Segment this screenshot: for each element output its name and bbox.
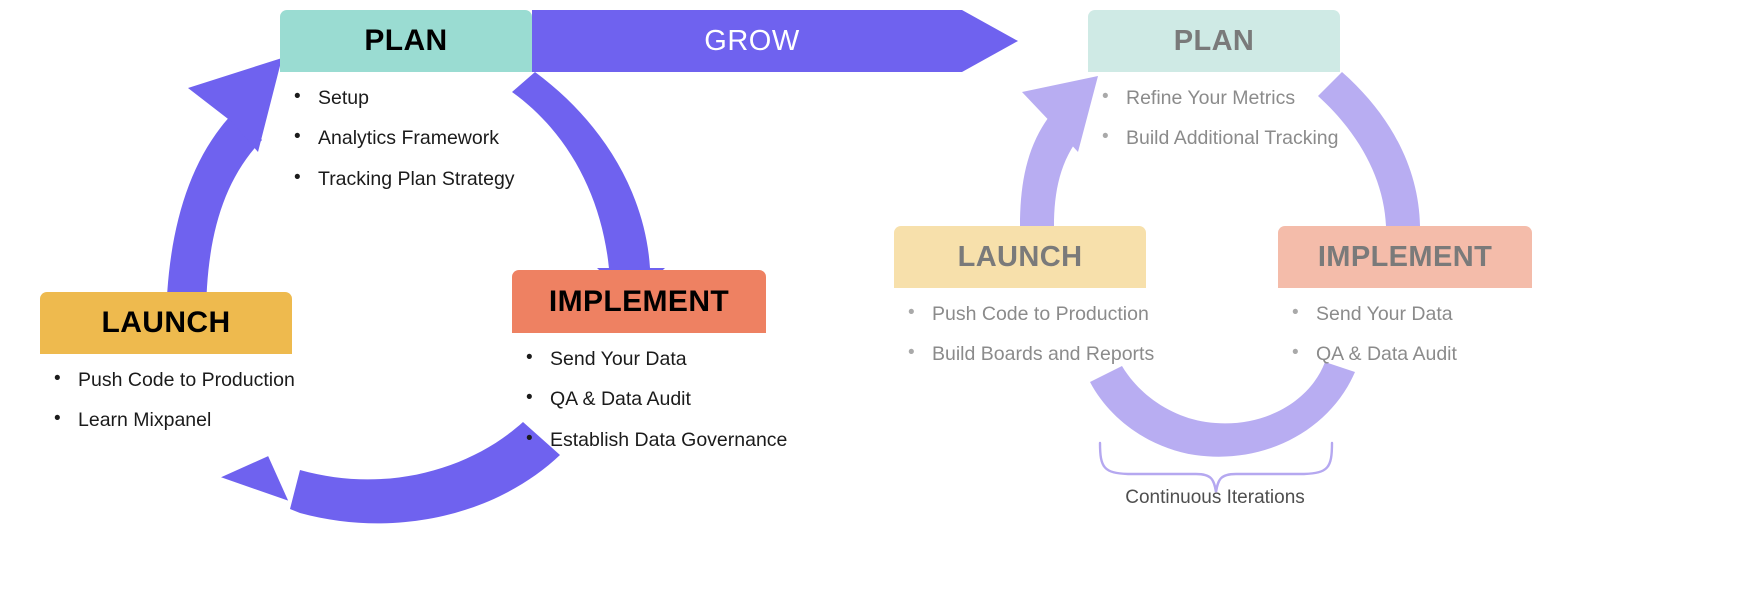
phase-launch-initial[interactable]: LAUNCH Push Code to Production Learn Mix… — [40, 292, 292, 449]
arrow-plan-to-implement — [512, 72, 652, 282]
list-item: QA & Data Audit — [512, 387, 766, 411]
phase-title-plan-iteration: PLAN — [1088, 10, 1340, 72]
list-item: Build Boards and Reports — [894, 342, 1146, 366]
phase-implement-initial[interactable]: IMPLEMENT Send Your Data QA & Data Audit… — [512, 270, 766, 468]
phase-items-plan-initial: Setup Analytics Framework Tracking Plan … — [280, 72, 532, 191]
phase-plan-iteration[interactable]: PLAN Refine Your Metrics Build Additiona… — [1088, 10, 1340, 167]
grow-banner: GROW — [532, 10, 1018, 72]
phase-items-implement-iteration: Send Your Data QA & Data Audit — [1278, 288, 1532, 367]
phase-title-plan-initial: PLAN — [280, 10, 532, 72]
phase-title-implement-initial: IMPLEMENT — [512, 270, 766, 333]
list-item: Learn Mixpanel — [40, 408, 292, 432]
phase-items-plan-iteration: Refine Your Metrics Build Additional Tra… — [1088, 72, 1340, 151]
list-item: Build Additional Tracking — [1088, 126, 1340, 150]
phase-implement-iteration[interactable]: IMPLEMENT Send Your Data QA & Data Audit — [1278, 226, 1532, 383]
phase-items-implement-initial: Send Your Data QA & Data Audit Establish… — [512, 333, 766, 452]
list-item: Push Code to Production — [40, 368, 292, 392]
phase-title-implement-iteration: IMPLEMENT — [1278, 226, 1532, 288]
arrowhead-implement-to-launch — [221, 443, 300, 501]
continuous-iterations-brace — [1100, 443, 1332, 492]
arrowhead-launch-to-plan-faded — [1022, 76, 1098, 152]
list-item: Push Code to Production — [894, 302, 1146, 326]
list-item: Send Your Data — [512, 347, 766, 371]
list-item: Establish Data Governance — [512, 428, 766, 452]
phase-title-launch-iteration: LAUNCH — [894, 226, 1146, 288]
list-item: Send Your Data — [1278, 302, 1532, 326]
phase-launch-iteration[interactable]: LAUNCH Push Code to Production Build Boa… — [894, 226, 1146, 383]
phase-items-launch-iteration: Push Code to Production Build Boards and… — [894, 288, 1146, 367]
list-item: QA & Data Audit — [1278, 342, 1532, 366]
arrow-launch-to-plan-faded — [1020, 108, 1082, 226]
arrowhead-launch-to-plan — [188, 58, 282, 152]
phase-items-launch-initial: Push Code to Production Learn Mixpanel — [40, 354, 292, 433]
list-item: Setup — [280, 86, 532, 110]
continuous-iterations-caption: Continuous Iterations — [1070, 487, 1360, 509]
list-item: Tracking Plan Strategy — [280, 167, 532, 191]
phase-plan-initial[interactable]: PLAN Setup Analytics Framework Tracking … — [280, 10, 532, 207]
diagram-canvas: GROW PLAN Setup Analytics Framework Trac… — [0, 0, 1740, 589]
list-item: Analytics Framework — [280, 126, 532, 150]
list-item: Refine Your Metrics — [1088, 86, 1340, 110]
phase-title-launch-initial: LAUNCH — [40, 292, 292, 354]
grow-label: GROW — [704, 25, 799, 58]
